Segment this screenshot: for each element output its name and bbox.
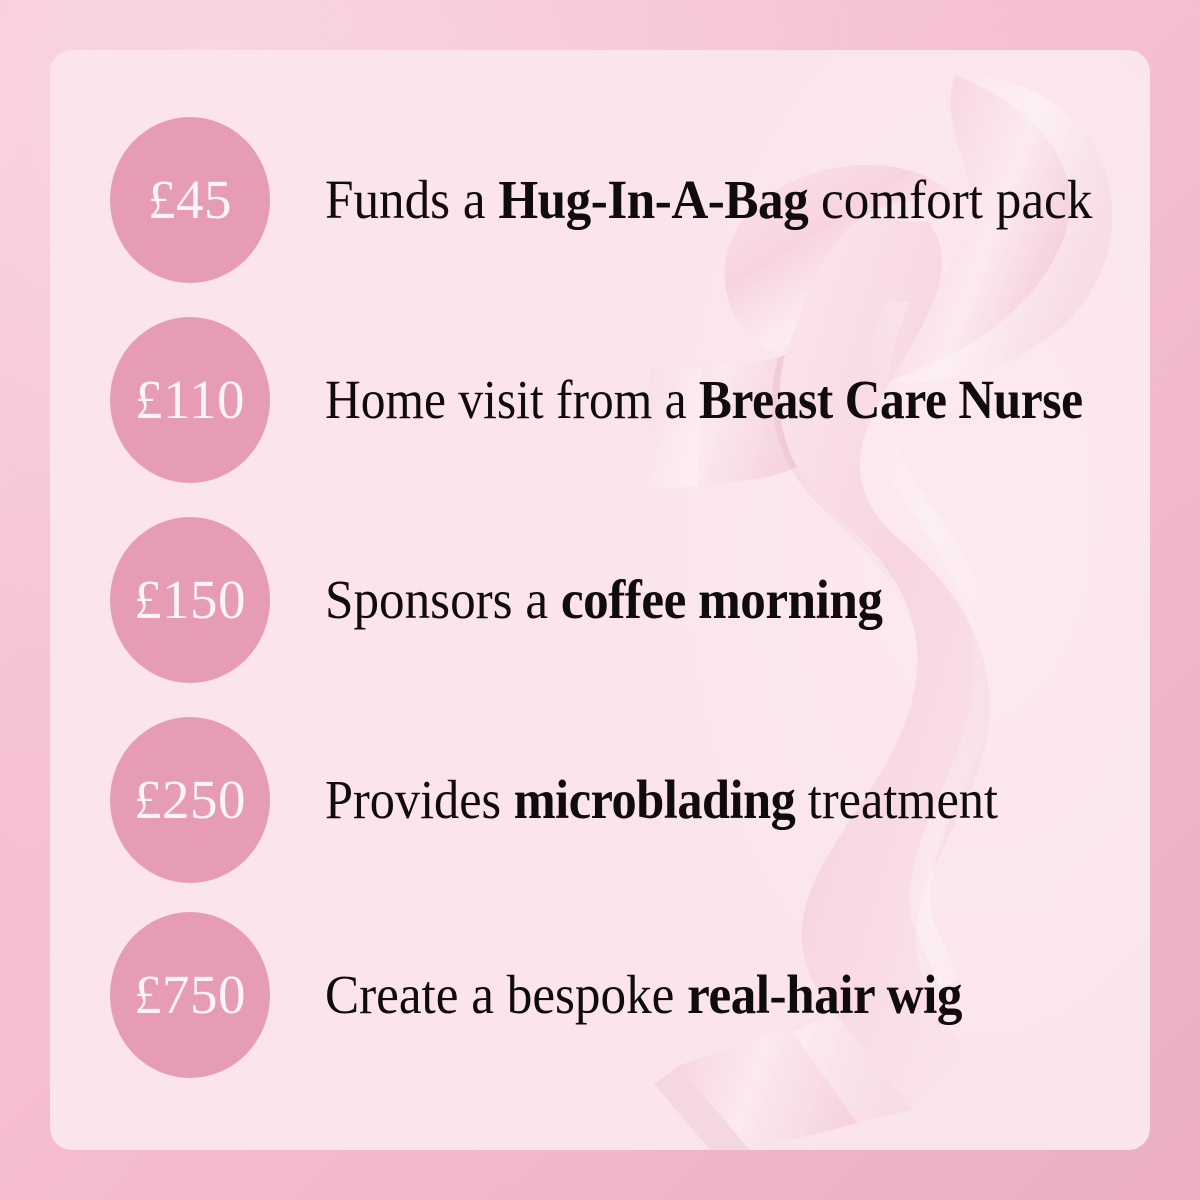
tier-row: £45 Funds a Hug-In-A-Bag comfort pack [50, 115, 1150, 285]
tier-description-prefix: Provides [325, 769, 514, 830]
tier-row: £750 Create a bespoke real-hair wig [50, 910, 1150, 1080]
content-card: £45 Funds a Hug-In-A-Bag comfort pack £1… [50, 50, 1150, 1150]
tier-description: Provides microblading treatment [325, 771, 1080, 829]
donation-tier-list: £45 Funds a Hug-In-A-Bag comfort pack £1… [50, 50, 1150, 1150]
tier-row: £150 Sponsors a coffee morning [50, 515, 1150, 685]
tier-description: Home visit from a Breast Care Nurse [325, 371, 1099, 429]
amount-label: £150 [134, 572, 246, 627]
tier-description-highlight: Breast Care Nurse [699, 369, 1083, 430]
tier-description-highlight: Hug-In-A-Bag [498, 169, 808, 230]
amount-badge: £250 [110, 717, 270, 883]
amount-label: £750 [134, 967, 246, 1022]
tier-description: Funds a Hug-In-A-Bag comfort pack [325, 171, 1109, 229]
tier-description-highlight: real-hair wig [687, 964, 962, 1025]
tier-description-prefix: Home visit from a [325, 369, 699, 430]
tier-description-suffix: treatment [795, 769, 998, 830]
tier-description-highlight: coffee morning [561, 569, 883, 630]
donation-tiers-poster: £45 Funds a Hug-In-A-Bag comfort pack £1… [0, 0, 1200, 1200]
tier-description-prefix: Sponsors a [325, 569, 561, 630]
tier-description-suffix: comfort pack [808, 169, 1092, 230]
tier-description-prefix: Create a bespoke [325, 964, 687, 1025]
tier-description-highlight: microblading [514, 769, 796, 830]
amount-badge: £45 [110, 117, 270, 283]
amount-badge: £110 [110, 317, 270, 483]
tier-description: Create a bespoke real-hair wig [325, 966, 1092, 1024]
tier-row: £110 Home visit from a Breast Care Nurse [50, 315, 1150, 485]
amount-badge: £150 [110, 517, 270, 683]
tier-row: £250 Provides microblading treatment [50, 715, 1150, 885]
amount-label: £45 [148, 172, 232, 227]
tier-description-prefix: Funds a [325, 169, 498, 230]
amount-badge: £750 [110, 912, 270, 1078]
tier-description: Sponsors a coffee morning [325, 571, 1092, 629]
amount-label: £250 [134, 772, 246, 827]
amount-label: £110 [135, 372, 245, 427]
